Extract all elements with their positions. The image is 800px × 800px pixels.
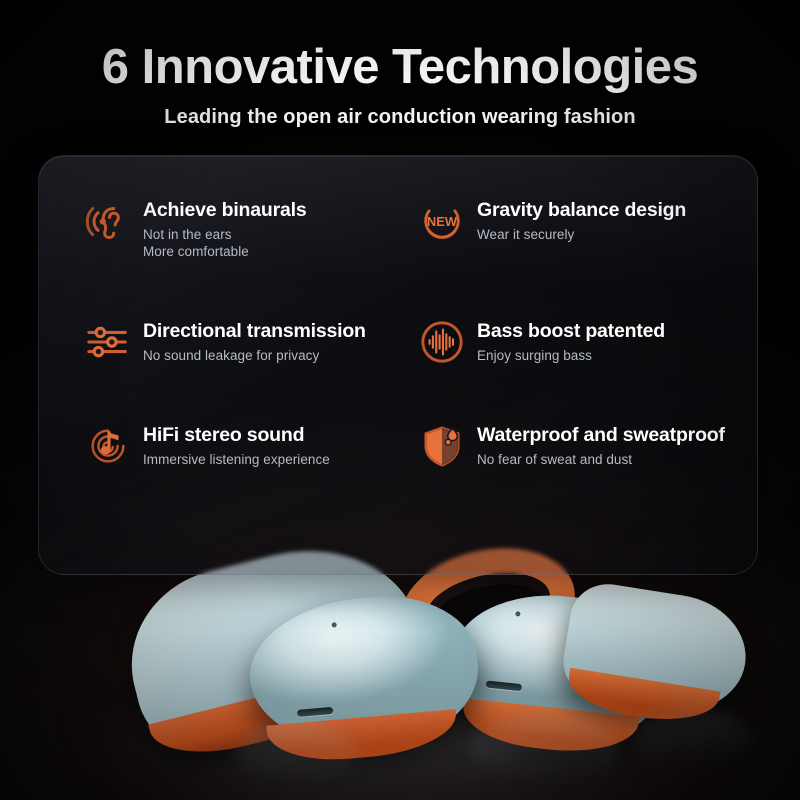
feature-subtitle: Wear it securely (477, 226, 686, 244)
new-badge-circle-icon: NEW (419, 198, 465, 244)
feature-subtitle-line: Enjoy surging bass (477, 347, 665, 365)
feature-title: Achieve binaurals (143, 199, 307, 222)
speaker-slot (486, 680, 523, 691)
page-title: 6 Innovative Technologies (0, 42, 800, 94)
feature-subtitle-line: Wear it securely (477, 226, 686, 244)
feature-text: Achieve binaurals Not in the ears More c… (143, 196, 307, 261)
feature-text: Gravity balance design Wear it securely (477, 196, 686, 243)
feature-title: HiFi stereo sound (143, 424, 330, 447)
feature-item-directional-transmission[interactable]: Directional transmission No sound leakag… (85, 317, 407, 365)
feature-text: Waterproof and sweatproof No fear of swe… (477, 421, 725, 468)
feature-item-waterproof-sweatproof[interactable]: Waterproof and sweatproof No fear of swe… (419, 421, 758, 469)
feature-title: Directional transmission (143, 320, 366, 343)
equalizer-sliders-icon (85, 319, 131, 365)
features-panel: Achieve binaurals Not in the ears More c… (38, 155, 758, 575)
feature-subtitle-line: More comfortable (143, 243, 307, 261)
infographic-canvas: 6 Innovative Technologies Leading the op… (0, 0, 800, 800)
mic-hole-icon (515, 611, 520, 616)
waveform-circle-icon (419, 319, 465, 365)
feature-subtitle-line: Immersive listening experience (143, 451, 330, 469)
header: 6 Innovative Technologies Leading the op… (0, 0, 800, 129)
feature-subtitle-line: No sound leakage for privacy (143, 347, 366, 365)
page-subtitle: Leading the open air conduction wearing … (0, 106, 800, 129)
feature-subtitle: Not in the ears More comfortable (143, 226, 307, 262)
feature-item-gravity-balance-design[interactable]: NEW Gravity balance design Wear it secur… (419, 196, 758, 261)
feature-item-hifi-stereo-sound[interactable]: HiFi stereo sound Immersive listening ex… (85, 421, 407, 469)
feature-title: Waterproof and sweatproof (477, 424, 725, 447)
feature-subtitle: No fear of sweat and dust (477, 451, 725, 469)
feature-subtitle-line: Not in the ears (143, 226, 307, 244)
mic-hole-icon (331, 622, 336, 627)
surface-reflection (236, 722, 356, 784)
features-grid: Achieve binaurals Not in the ears More c… (39, 156, 758, 469)
feature-subtitle: No sound leakage for privacy (143, 347, 366, 365)
feature-subtitle-line: No fear of sweat and dust (477, 451, 725, 469)
feature-text: HiFi stereo sound Immersive listening ex… (143, 421, 330, 468)
feature-subtitle: Enjoy surging bass (477, 347, 665, 365)
surface-reflection (630, 708, 750, 768)
feature-text: Bass boost patented Enjoy surging bass (477, 317, 665, 364)
ear-sound-waves-icon (85, 198, 131, 244)
feature-item-bass-boost-patented[interactable]: Bass boost patented Enjoy surging bass (419, 317, 758, 365)
feature-title: Gravity balance design (477, 199, 686, 222)
speaker-slot (297, 707, 333, 717)
feature-title: Bass boost patented (477, 320, 665, 343)
feature-subtitle: Immersive listening experience (143, 451, 330, 469)
vinyl-spiral-music-note-icon (85, 423, 131, 469)
feature-item-achieve-binaurals[interactable]: Achieve binaurals Not in the ears More c… (85, 196, 407, 261)
shield-water-drops-icon (419, 423, 465, 469)
surface-reflection (470, 714, 620, 784)
new-badge-text: NEW (427, 214, 458, 229)
feature-text: Directional transmission No sound leakag… (143, 317, 366, 364)
